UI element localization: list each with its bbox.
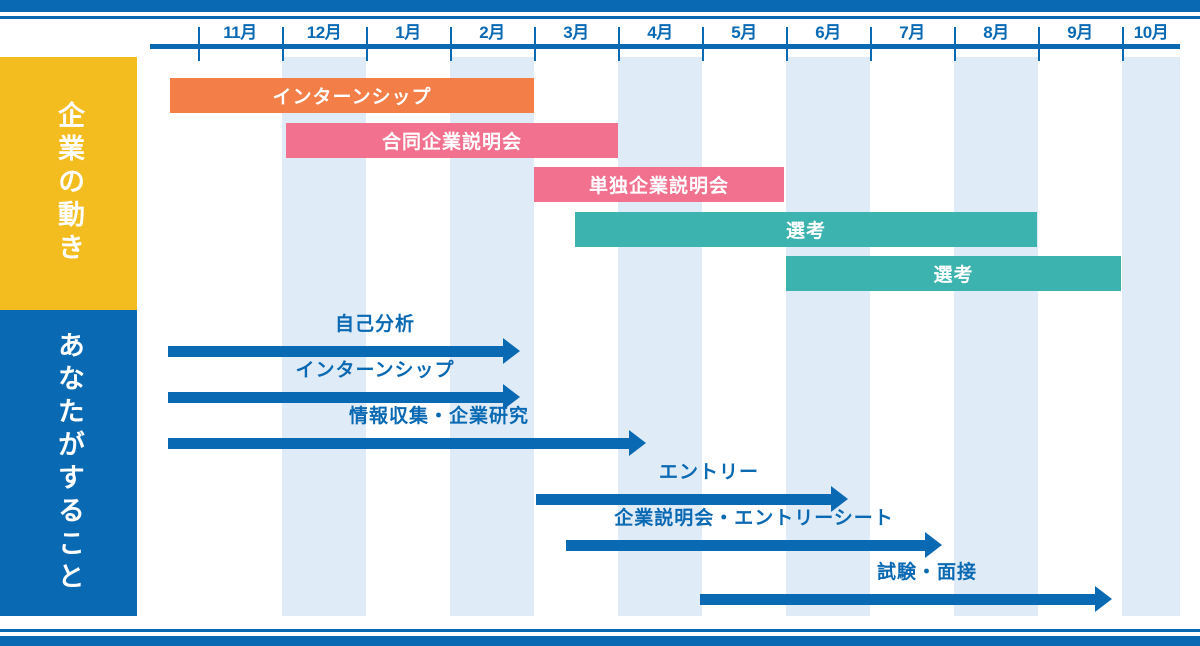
sidebar-group-you-label: あなたがすること: [55, 331, 82, 595]
gantt-bar-2: 合同企業説明会: [286, 123, 618, 158]
gantt-bar-1: インターンシップ: [170, 78, 534, 113]
month-label-1: 11月: [198, 22, 282, 44]
timeline-tick: [450, 49, 452, 61]
arrow-head-icon: [629, 430, 646, 456]
timeline-axis: [150, 44, 1180, 49]
timeline-tick: [366, 49, 368, 61]
arrow-shaft: [566, 540, 925, 551]
bottom-divider-rule: [0, 629, 1200, 632]
month-label-5: 3月: [534, 22, 618, 44]
gantt-bar-4: 選考: [575, 212, 1037, 247]
month-column-shade: [954, 57, 1038, 616]
bottom-accent-band: [0, 636, 1200, 646]
month-label-6: 4月: [618, 22, 702, 44]
gantt-arrow-label-4: エントリー: [570, 458, 848, 486]
month-label-11: 9月: [1038, 22, 1122, 44]
timeline-tick: [786, 49, 788, 61]
month-label-2: 12月: [282, 22, 366, 44]
gantt-arrow-label-5: 企業説明会・エントリーシート: [566, 504, 942, 532]
timeline-tick: [282, 49, 284, 61]
month-label-4: 2月: [450, 22, 534, 44]
gantt-arrow-label-1: 自己分析: [250, 310, 500, 338]
gantt-arrow-label-3: 情報収集・企業研究: [230, 402, 648, 430]
gantt-bar-5: 選考: [786, 256, 1121, 291]
timeline-tick: [1038, 49, 1040, 61]
month-label-12: 10月: [1122, 22, 1180, 44]
timeline-tick: [954, 49, 956, 61]
sidebar-group-company-label: 企業の動き: [55, 101, 82, 266]
timeline-tick: [198, 49, 200, 61]
month-label-8: 6月: [786, 22, 870, 44]
month-label-10: 8月: [954, 22, 1038, 44]
timeline-tick: [618, 49, 620, 61]
month-label-9: 7月: [870, 22, 954, 44]
timeline-tick: [1122, 49, 1124, 61]
top-accent-band: [0, 0, 1200, 12]
month-column-shade: [1122, 57, 1180, 616]
sidebar-group-you: あなたがすること: [0, 310, 137, 616]
gantt-arrow-label-6: 試験・面接: [742, 558, 1112, 586]
gantt-bar-3: 単独企業説明会: [534, 167, 784, 202]
month-label-3: 1月: [366, 22, 450, 44]
gantt-arrow-label-2: インターンシップ: [230, 356, 520, 384]
arrow-head-icon: [1095, 586, 1112, 612]
timeline-tick: [702, 49, 704, 61]
arrow-head-icon: [925, 532, 942, 558]
arrow-shaft: [168, 438, 629, 449]
timeline-tick: [534, 49, 536, 61]
timeline-tick: [870, 49, 872, 61]
month-label-7: 5月: [702, 22, 786, 44]
arrow-shaft: [700, 594, 1095, 605]
sidebar-group-company: 企業の動き: [0, 57, 137, 310]
top-divider-rule: [0, 16, 1200, 19]
